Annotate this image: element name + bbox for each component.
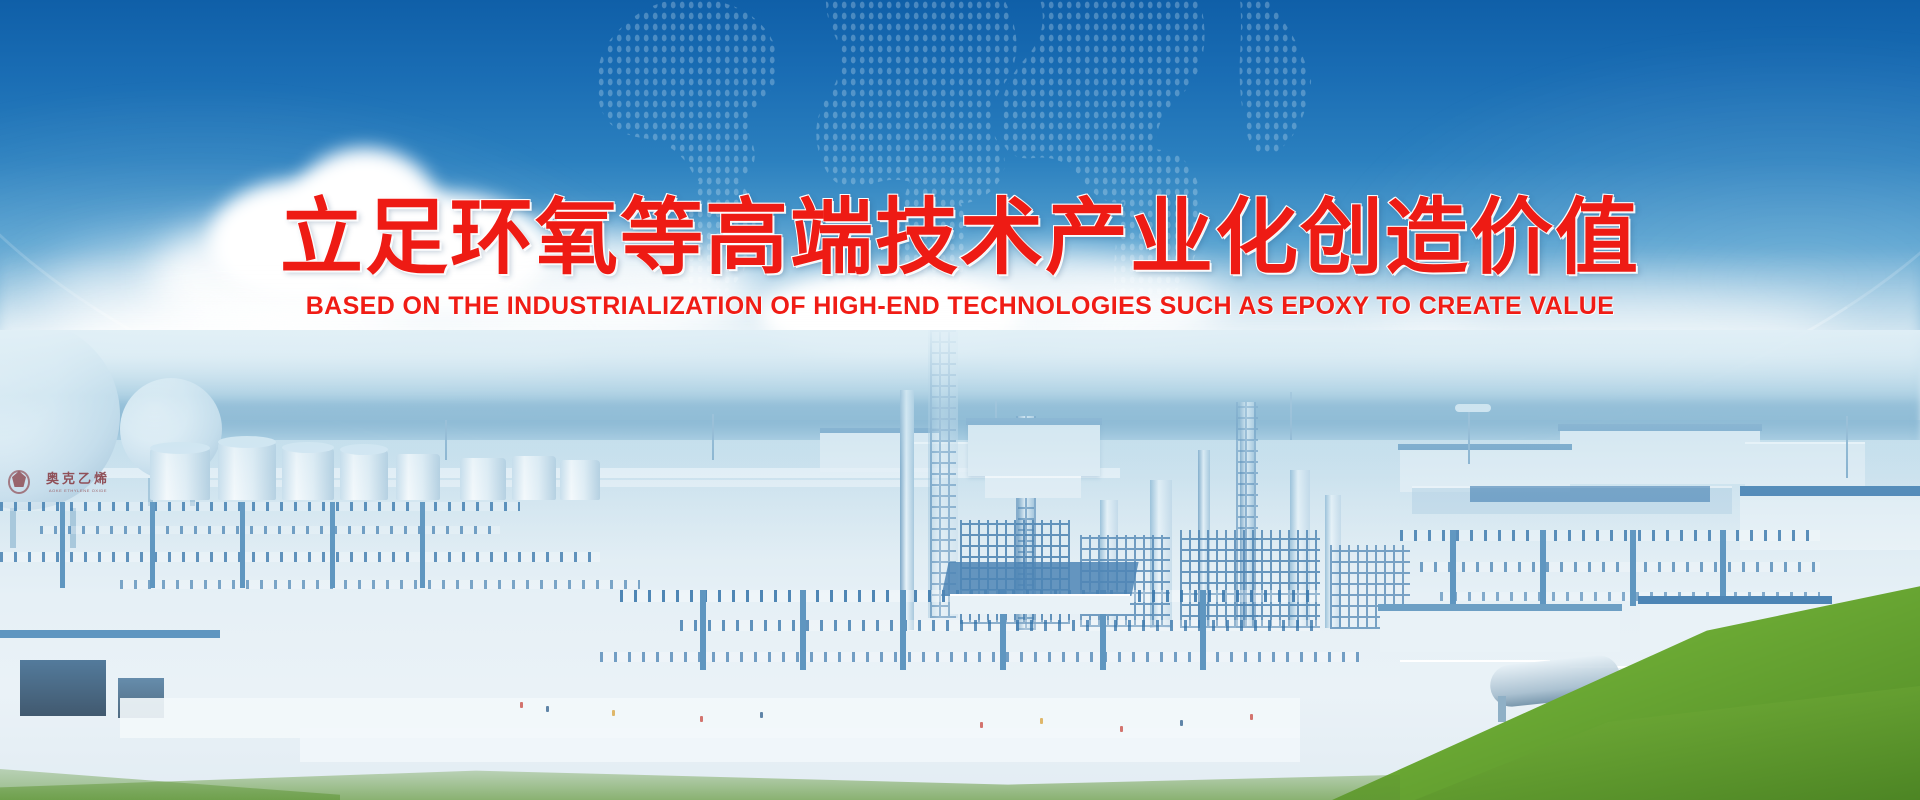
tank-brand-label: 奥克乙烯 AOKE ETHYLENE OXIDE <box>30 468 126 493</box>
warehouse-roof <box>941 562 1138 596</box>
page-title: 立足环氧等高端技术产业化创造价值 <box>0 196 1920 279</box>
office-building-main <box>1560 428 1760 484</box>
tank-label-en: AOKE ETHYLENE OXIDE <box>30 488 126 493</box>
control-building <box>968 422 1100 476</box>
tank-label-cn: 奥克乙烯 <box>30 468 126 487</box>
hero-banner: 奥克乙烯 AOKE ETHYLENE OXIDE <box>0 0 1920 800</box>
hero-text-block: 立足环氧等高端技术产业化创造价值 BASED ON THE INDUSTRIAL… <box>0 196 1920 321</box>
industrial-plant-photo: 奥克乙烯 AOKE ETHYLENE OXIDE <box>0 330 1920 800</box>
page-subtitle: BASED ON THE INDUSTRIALIZATION OF HIGH-E… <box>0 293 1920 321</box>
